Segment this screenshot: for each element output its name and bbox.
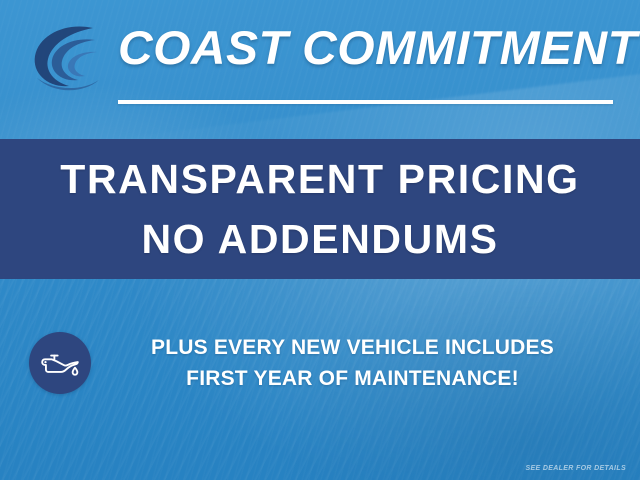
header-divider bbox=[118, 100, 613, 104]
oil-can-icon bbox=[29, 332, 91, 394]
maintenance-promo: PLUS EVERY NEW VEHICLE INCLUDES FIRST YE… bbox=[0, 320, 640, 405]
pricing-band: TRANSPARENT PRICING NO ADDENDUMS bbox=[0, 139, 640, 279]
banner-header: COAST COMMITMENT bbox=[0, 0, 640, 139]
coast-commitment-banner: COAST COMMITMENT TRANSPARENT PRICING NO … bbox=[0, 0, 640, 480]
page-title: COAST COMMITMENT bbox=[118, 22, 628, 74]
pricing-headline-secondary: NO ADDENDUMS bbox=[141, 209, 498, 269]
coast-wave-swoosh-icon bbox=[23, 18, 115, 94]
promo-line-secondary: FIRST YEAR OF MAINTENANCE! bbox=[91, 363, 614, 394]
pricing-headline-primary: TRANSPARENT PRICING bbox=[60, 149, 579, 209]
maintenance-promo-text: PLUS EVERY NEW VEHICLE INCLUDES FIRST YE… bbox=[91, 332, 640, 394]
promo-line-primary: PLUS EVERY NEW VEHICLE INCLUDES bbox=[91, 332, 614, 363]
disclaimer-text: SEE DEALER FOR DETAILS bbox=[525, 465, 626, 472]
